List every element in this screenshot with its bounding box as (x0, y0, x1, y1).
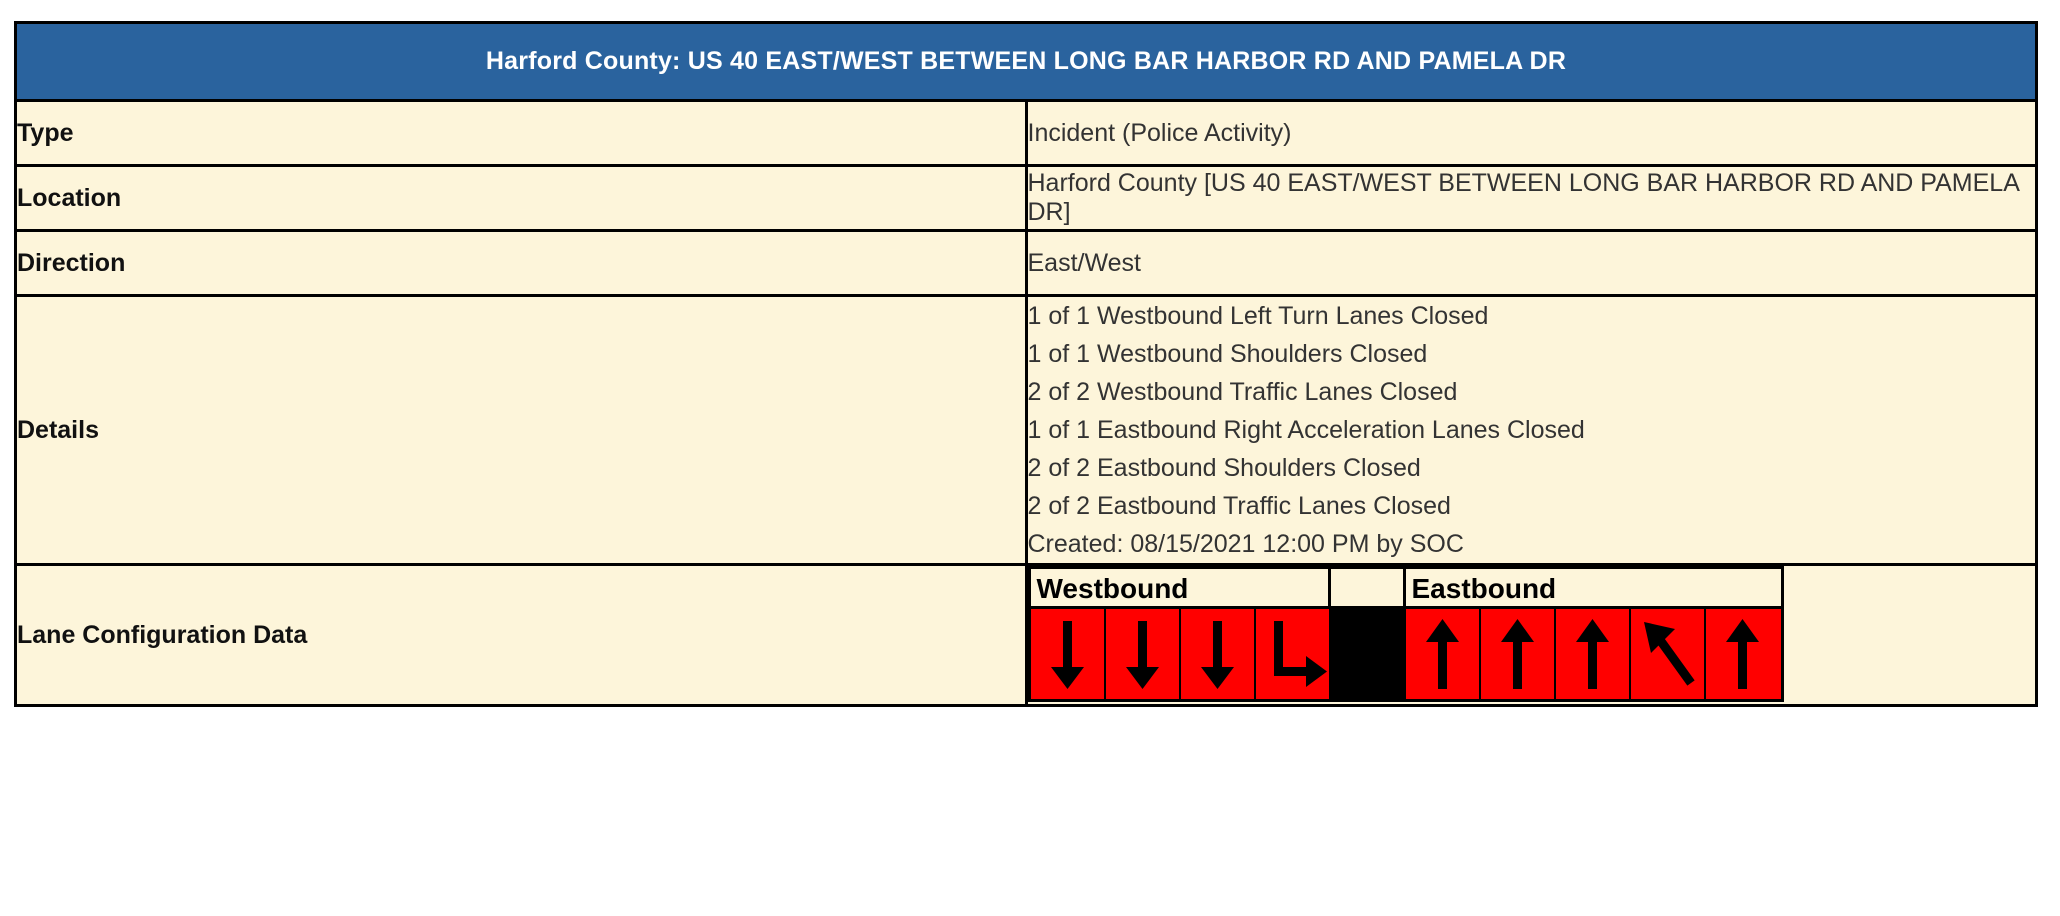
arrow-diagonal-up-left-icon (1631, 609, 1704, 699)
details-line-list: 1 of 1 Westbound Left Turn Lanes Closed1… (1028, 297, 2036, 563)
page-root: Harford County: US 40 EAST/WEST BETWEEN … (0, 0, 2060, 916)
lane-westbound-4 (1256, 609, 1331, 699)
lane-cell-row (1031, 609, 1781, 699)
incident-detail-table: Harford County: US 40 EAST/WEST BETWEEN … (14, 21, 2038, 707)
arrow-right-turn-icon (1256, 609, 1329, 699)
median-direction-label (1331, 569, 1406, 609)
label-location: Location (16, 166, 1027, 231)
lane-eastbound-3 (1556, 609, 1631, 699)
details-line: 2 of 2 Westbound Traffic Lanes Closed (1028, 373, 2036, 411)
lane-westbound-2 (1106, 609, 1181, 699)
lane-direction-header-row: Westbound Eastbound (1031, 569, 1781, 609)
lane-eastbound-2 (1481, 609, 1556, 699)
table-row-type: Type Incident (Police Activity) (16, 101, 2037, 166)
lane-eastbound-4 (1631, 609, 1706, 699)
lane-eastbound-5 (1706, 609, 1781, 699)
arrow-down-icon (1181, 609, 1254, 699)
arrow-up-icon (1406, 609, 1479, 699)
lane-westbound-1 (1031, 609, 1106, 699)
arrow-down-icon (1031, 609, 1104, 699)
details-line: Created: 08/15/2021 12:00 PM by SOC (1028, 525, 2036, 563)
table-row-lane-configuration: Lane Configuration Data Westbound Eastbo… (16, 565, 2037, 706)
value-details: 1 of 1 Westbound Left Turn Lanes Closed1… (1026, 296, 2037, 565)
value-direction: East/West (1026, 231, 2037, 296)
arrow-up-icon (1556, 609, 1629, 699)
page-title: Harford County: US 40 EAST/WEST BETWEEN … (17, 24, 2035, 99)
label-direction: Direction (16, 231, 1027, 296)
westbound-direction-label: Westbound (1031, 569, 1331, 609)
details-line: 1 of 1 Eastbound Right Acceleration Lane… (1028, 411, 2036, 449)
lane-median (1331, 609, 1406, 699)
lane-configuration-diagram: Westbound Eastbound (1028, 566, 1784, 702)
arrow-down-icon (1106, 609, 1179, 699)
table-row-location: Location Harford County [US 40 EAST/WEST… (16, 166, 2037, 231)
value-lane-configuration: Westbound Eastbound (1026, 565, 2037, 706)
table-row-direction: Direction East/West (16, 231, 2037, 296)
details-line: 2 of 2 Eastbound Shoulders Closed (1028, 449, 2036, 487)
table-row-details: Details 1 of 1 Westbound Left Turn Lanes… (16, 296, 2037, 565)
eastbound-direction-label: Eastbound (1406, 569, 1781, 609)
label-type: Type (16, 101, 1027, 166)
details-line: 2 of 2 Eastbound Traffic Lanes Closed (1028, 487, 2036, 525)
details-line: 1 of 1 Westbound Left Turn Lanes Closed (1028, 297, 2036, 335)
arrow-up-icon (1481, 609, 1554, 699)
value-location: Harford County [US 40 EAST/WEST BETWEEN … (1026, 166, 2037, 231)
table-row-header: Harford County: US 40 EAST/WEST BETWEEN … (16, 23, 2037, 101)
lane-eastbound-1 (1406, 609, 1481, 699)
header-banner: Harford County: US 40 EAST/WEST BETWEEN … (16, 23, 2037, 101)
value-type: Incident (Police Activity) (1026, 101, 2037, 166)
label-details: Details (16, 296, 1027, 565)
arrow-up-icon (1706, 609, 1779, 699)
label-lane-configuration: Lane Configuration Data (16, 565, 1027, 706)
lane-westbound-3 (1181, 609, 1256, 699)
details-line: 1 of 1 Westbound Shoulders Closed (1028, 335, 2036, 373)
